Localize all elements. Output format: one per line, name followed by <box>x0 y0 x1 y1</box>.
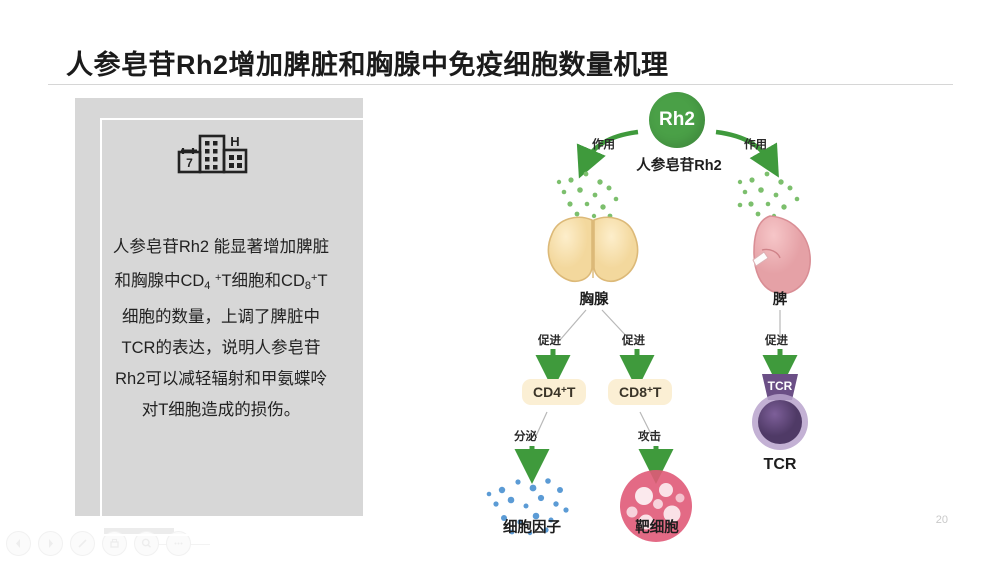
tcr-label: TCR <box>758 456 802 474</box>
cd4-suffix: T <box>567 384 576 400</box>
next-button[interactable] <box>38 531 63 556</box>
arrow-label-to-thymus: 作用 <box>592 136 615 152</box>
arrow-label-thymus-cd4: 促进 <box>538 332 561 348</box>
cytokine-label: 细胞因子 <box>492 516 572 537</box>
cd4-t-badge: CD4+T <box>522 379 586 405</box>
previous-button[interactable] <box>6 531 31 556</box>
spleen-label: 脾 <box>758 288 802 309</box>
svg-text:7: 7 <box>186 156 193 170</box>
tcr-receptor-label: TCR <box>762 379 798 393</box>
panel-paragraph: 人参皂苷Rh2 能显著增加脾脏和胸腺中CD4 +T细胞和CD8+T细胞的数量，上… <box>110 232 332 426</box>
page-title: 人参皂苷Rh2增加脾脏和胸腺中免疫细胞数量机理 <box>66 43 669 82</box>
print-button[interactable] <box>102 531 127 556</box>
chevron-right-icon <box>45 538 56 549</box>
bottom-toolbar <box>6 531 191 556</box>
mechanism-diagram: Rh2 人参皂苷Rh2 作用 作用 胸腺 脾 促进 促进 促进 CD4+T CD… <box>440 92 960 542</box>
title-divider <box>48 84 953 85</box>
arrow-label-thymus-cd8: 促进 <box>622 332 645 348</box>
cd4-text: CD4 <box>533 384 561 400</box>
page-number: 20 <box>936 514 948 526</box>
arrow-label-attack: 攻击 <box>638 428 661 444</box>
edit-button[interactable] <box>70 531 95 556</box>
svg-text:H: H <box>230 134 239 149</box>
rh2-label: 人参皂苷Rh2 <box>632 154 726 175</box>
printer-icon <box>108 537 121 550</box>
hospital-building-icon: 7 H <box>175 128 255 178</box>
ellipsis-icon <box>172 537 185 550</box>
arrow-label-to-spleen: 作用 <box>744 136 767 152</box>
thymus-label: 胸腺 <box>563 288 625 309</box>
spleen-organ <box>753 216 810 294</box>
connector-thymus-cd4 <box>560 310 586 340</box>
thymus-organ <box>548 217 637 281</box>
search-icon <box>140 537 153 550</box>
target-cell-label: 靶细胞 <box>626 516 688 537</box>
arrow-label-spleen-tcr: 促进 <box>765 332 788 348</box>
particles-spleen <box>738 172 800 219</box>
arrow-label-secrete: 分泌 <box>514 428 537 444</box>
search-button[interactable] <box>134 531 159 556</box>
chevron-left-icon <box>13 538 24 549</box>
more-button[interactable] <box>166 531 191 556</box>
particles-thymus <box>557 172 619 219</box>
connector-cd4-cytokine <box>536 412 547 436</box>
cd8-text: CD8 <box>619 384 647 400</box>
cd8-t-badge: CD8+T <box>608 379 672 405</box>
cd8-suffix: T <box>653 384 662 400</box>
rh2-badge: Rh2 <box>649 92 705 148</box>
pen-icon <box>76 537 89 550</box>
